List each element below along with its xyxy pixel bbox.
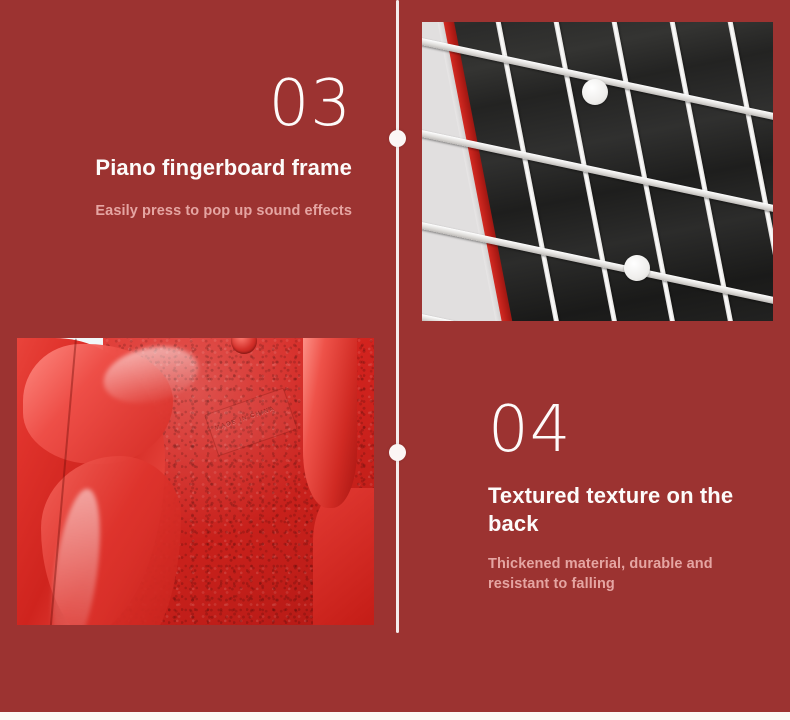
section-03-title: Piano fingerboard frame [20,154,352,182]
section-03-subtitle: Easily press to pop up sound effects [20,202,352,222]
textured-back-photo-backdrop: MADE IN CHINA [17,338,374,625]
made-in-china-text: MADE IN CHINA [214,406,275,432]
timeline-line [396,0,399,633]
section-03-number: 03 [20,72,352,136]
fingerboard-photo-backdrop [422,22,773,321]
bottom-edge-band [0,712,790,720]
section-04-number: 04 [488,398,778,462]
section-04-title: Textured texture on the back [488,482,778,537]
section-04-text-block: 04 Textured texture on the back Thickene… [488,398,778,594]
fret-inlay-dot [582,79,608,105]
section-04-subtitle: Thickened material, durable and resistan… [488,555,778,594]
guitar-back-lower-right [313,488,374,625]
fret-inlay-dot [624,255,650,281]
timeline-dot-03 [389,130,406,147]
fingerboard-photo [422,22,773,321]
timeline-dot-04 [389,444,406,461]
section-03-text-block: 03 Piano fingerboard frame Easily press … [20,72,352,221]
textured-back-photo: MADE IN CHINA [17,338,374,625]
guitar-neck-horn [303,338,357,508]
infographic-canvas: 03 Piano fingerboard frame Easily press … [0,0,790,720]
